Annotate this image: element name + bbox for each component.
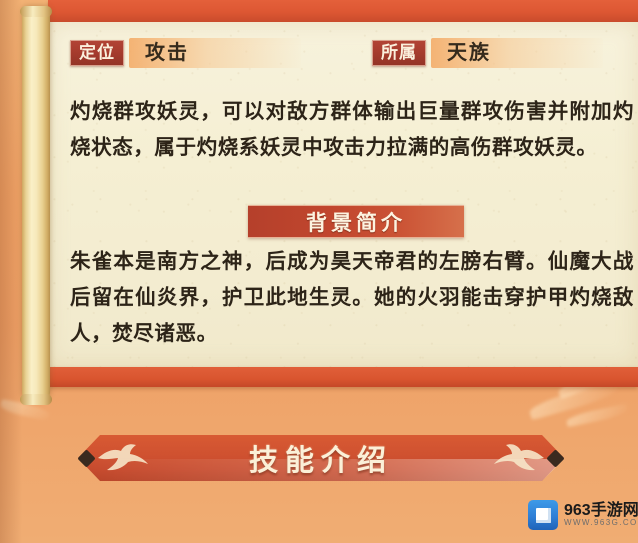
left-edge-shadow bbox=[0, 0, 22, 543]
character-description-text: 灼烧群攻妖灵，可以对敌方群体输出巨量群攻伤害并附加灼烧状态，属于灼烧系妖灵中攻击… bbox=[70, 94, 634, 166]
skill-section-title: 技能介绍 bbox=[78, 435, 564, 481]
game-detail-screen: 定位 攻击 所属 天族 灼烧群攻妖灵，可以对敌方群体输出巨量群攻伤害并附加灼烧状… bbox=[0, 0, 638, 543]
watermark-texts: 963手游网 WWW.963G.COM bbox=[564, 502, 638, 528]
attributes-row: 定位 攻击 所属 天族 bbox=[70, 36, 630, 70]
attribute-role: 定位 攻击 bbox=[70, 36, 301, 70]
site-watermark: 963手游网 WWW.963G.COM bbox=[528, 497, 632, 533]
watermark-site-name: 963手游网 bbox=[564, 502, 638, 520]
faction-tag-label: 所属 bbox=[372, 40, 426, 66]
faction-value: 天族 bbox=[435, 42, 491, 64]
scroll-rod-cap-top bbox=[20, 6, 52, 17]
skill-section-banner[interactable]: 技能介绍 bbox=[78, 435, 564, 481]
faction-value-chip: 天族 bbox=[435, 38, 603, 68]
scroll-bottom-band bbox=[48, 367, 638, 387]
scroll-top-band bbox=[48, 0, 638, 22]
flame-wisp-icon bbox=[566, 404, 629, 428]
background-section-banner: 背景简介 bbox=[248, 205, 464, 238]
background-lore-text: 朱雀本是南方之神，后成为昊天帝君的左膀右臂。仙魔大战后留在仙炎界，护卫此地生灵。… bbox=[70, 244, 634, 352]
background-section-title: 背景简介 bbox=[306, 207, 406, 237]
scroll-rod-left bbox=[22, 6, 50, 398]
app-bag-icon bbox=[528, 500, 558, 530]
scroll-rod-cap-bottom bbox=[20, 394, 52, 405]
role-value-chip: 攻击 bbox=[133, 38, 301, 68]
cube-glyph-icon bbox=[536, 508, 551, 523]
watermark-site-url: WWW.963G.COM bbox=[564, 519, 638, 528]
attribute-faction: 所属 天族 bbox=[372, 36, 603, 70]
scroll-panel: 定位 攻击 所属 天族 灼烧群攻妖灵，可以对敌方群体输出巨量群攻伤害并附加灼烧状… bbox=[22, 0, 638, 397]
role-tag-label: 定位 bbox=[70, 40, 124, 66]
role-value: 攻击 bbox=[133, 42, 189, 64]
